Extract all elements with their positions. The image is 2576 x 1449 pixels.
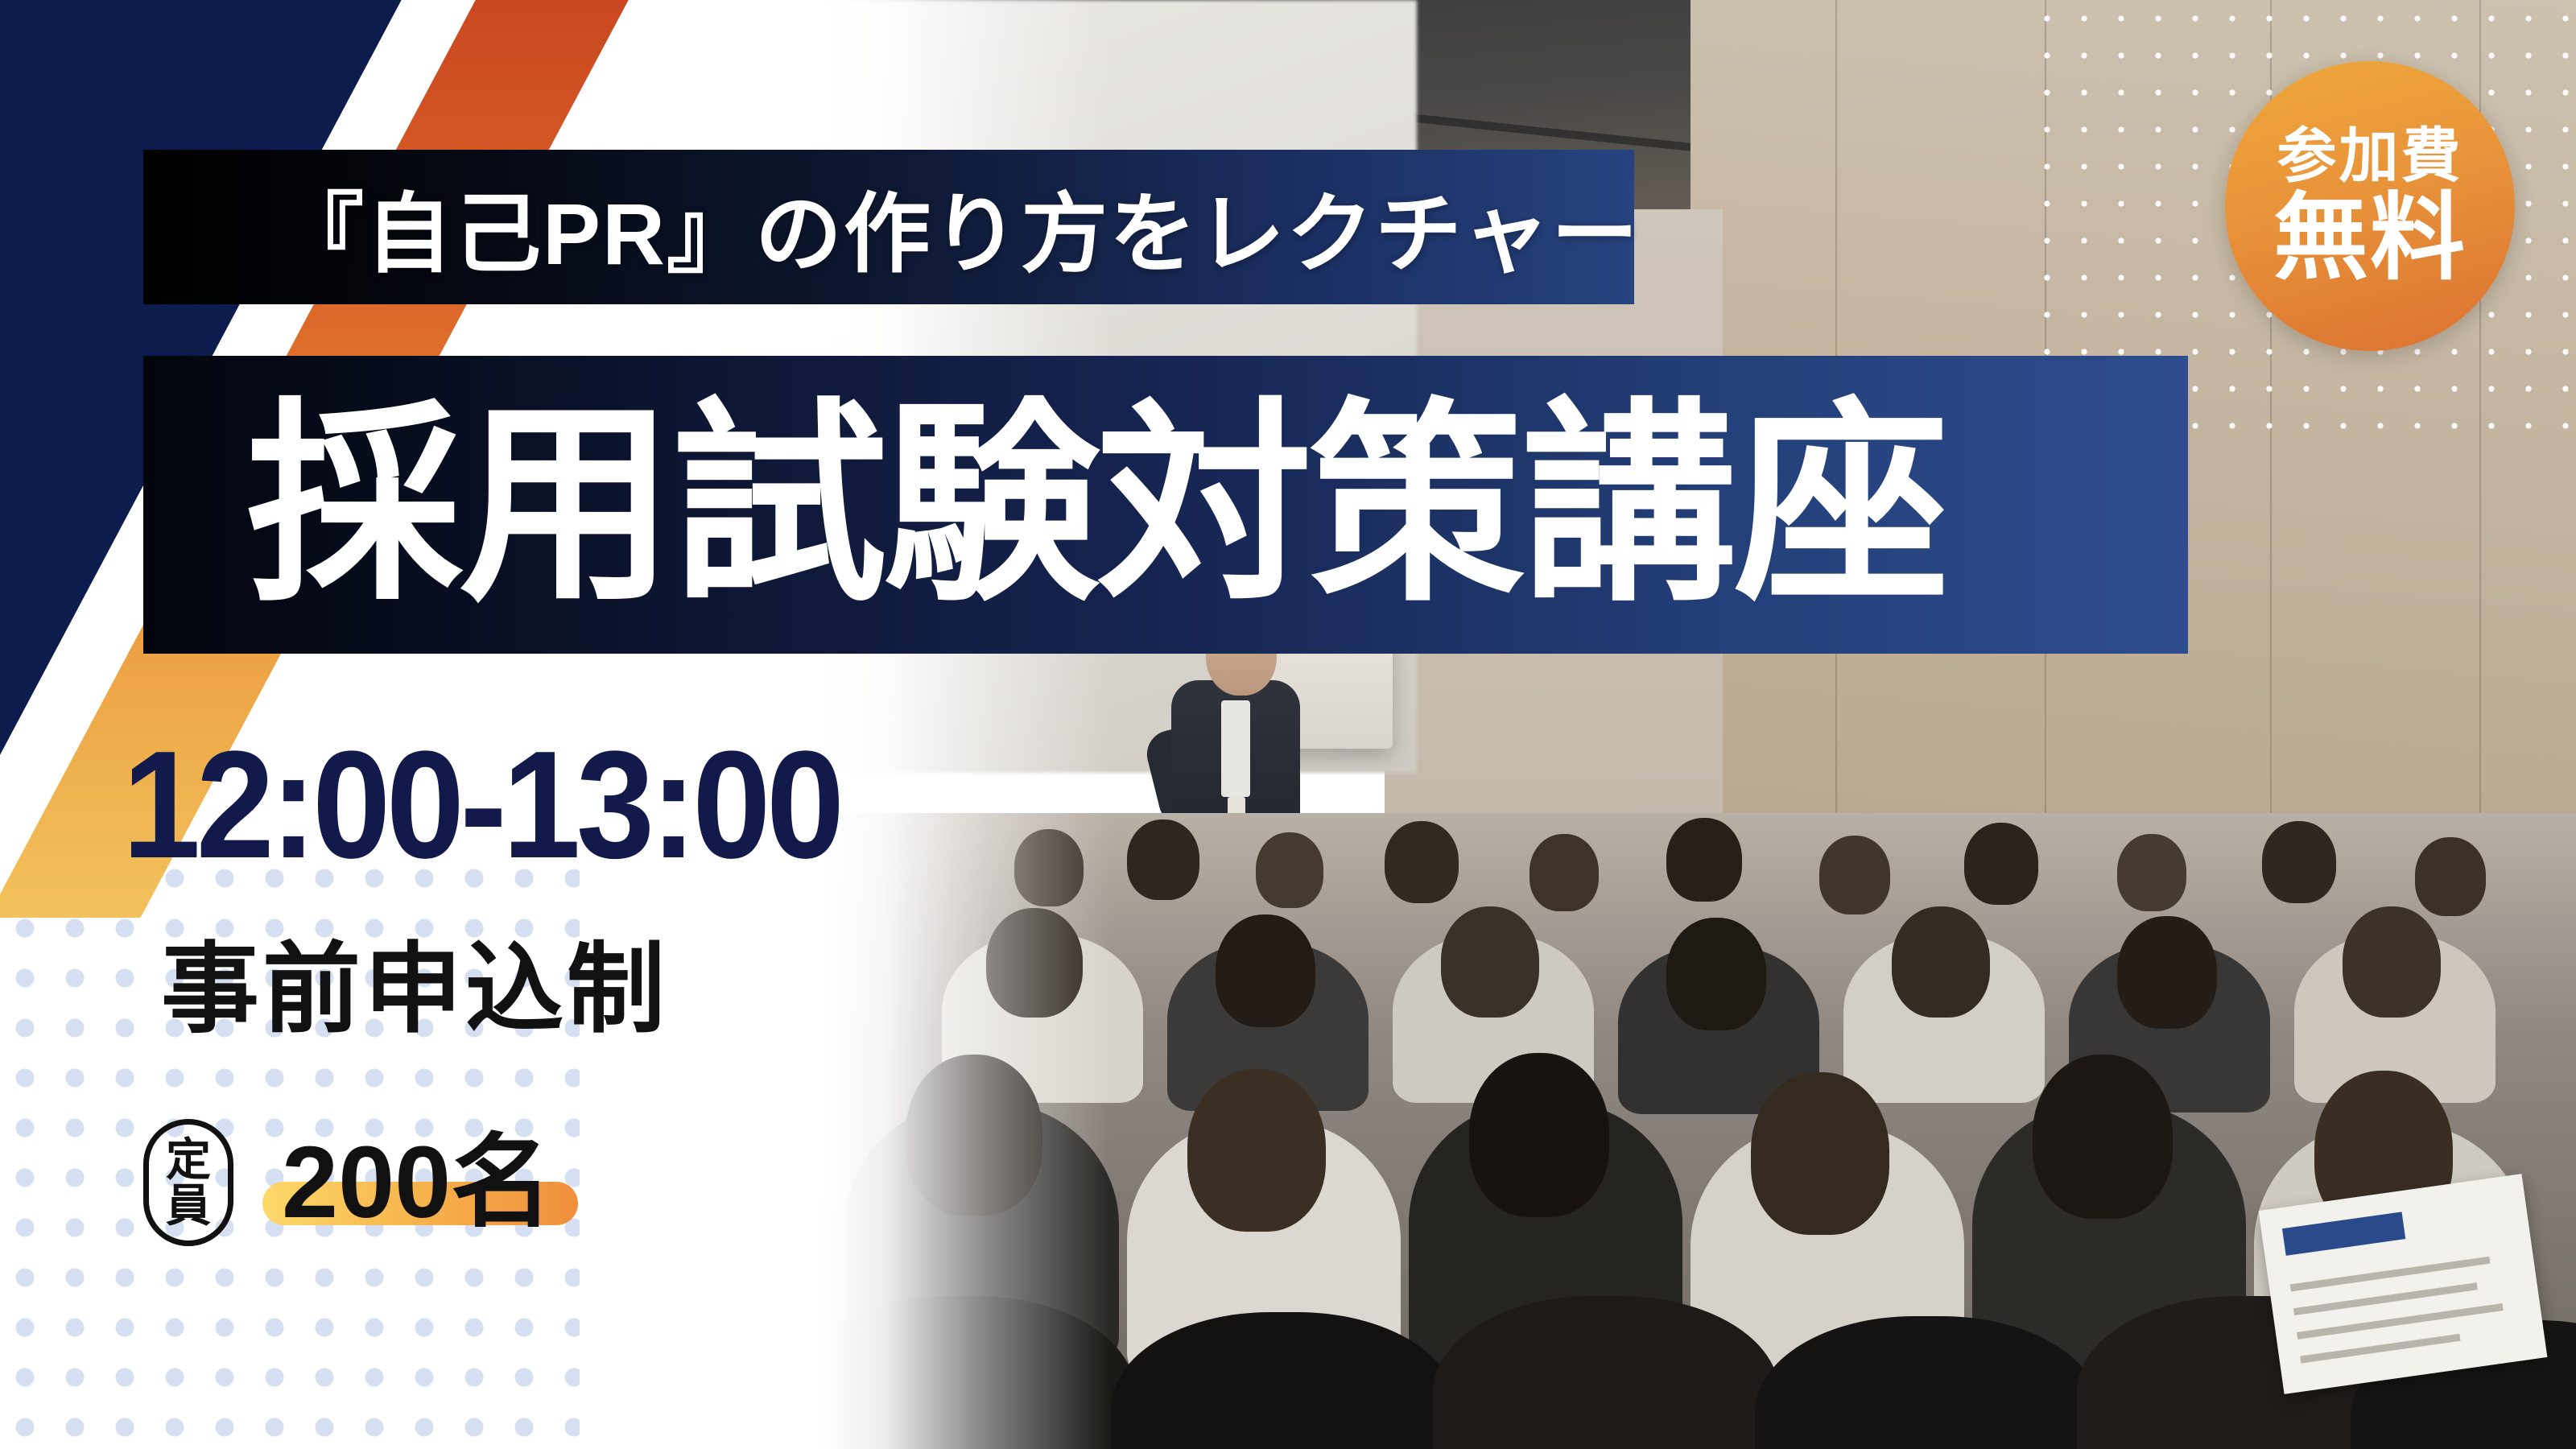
audience-head [1187,1069,1326,1232]
handout-paper [2259,1174,2548,1394]
audience-head [1127,819,1199,900]
audience-head [1819,836,1890,914]
capacity-row: 定 員 200名 [143,1119,572,1246]
capacity-value: 200名 [282,1132,552,1233]
audience-head [2117,834,2186,911]
event-time: 12:00-13:00 [122,729,840,881]
audience-head [1892,906,1990,1018]
audience-head [1385,821,1459,903]
audience-head [1441,906,1539,1018]
free-badge-top-label: 参加費 [2277,126,2463,186]
audience-head [1469,1053,1609,1217]
audience-head [1216,914,1315,1027]
promo-banner: 『自己PR』の作り方をレクチャー 採用試験対策講座 参加費 無料 12:00-1… [0,0,2576,1449]
audience-head [2343,906,2441,1018]
capacity-value-wrap: 200名 [262,1132,572,1233]
capacity-label-line1: 定 [166,1137,211,1183]
application-note: 事前申込制 [161,940,668,1038]
audience-head [2262,821,2336,903]
audience-head [1256,832,1323,908]
audience-head [1666,818,1742,902]
audience-head [1964,823,2038,905]
subtitle-bar: 『自己PR』の作り方をレクチャー [143,150,1634,304]
title-bar: 採用試験対策講座 [143,356,2188,654]
audience-head [2415,837,2486,916]
audience-head [1666,918,1766,1030]
capacity-label-capsule: 定 員 [143,1119,233,1246]
subtitle-text: 『自己PR』の作り方をレクチャー [277,164,1640,290]
audience-head [1529,834,1599,911]
page-title: 採用試験対策講座 [246,397,1946,613]
audience-head [2117,916,2217,1029]
speaker-shirt [1221,700,1250,797]
audience-head [2033,1055,2173,1219]
audience-head [1751,1072,1889,1235]
free-badge-main-label: 無料 [2273,191,2467,286]
free-badge: 参加費 無料 [2225,61,2515,351]
capacity-label-line2: 員 [166,1183,211,1228]
